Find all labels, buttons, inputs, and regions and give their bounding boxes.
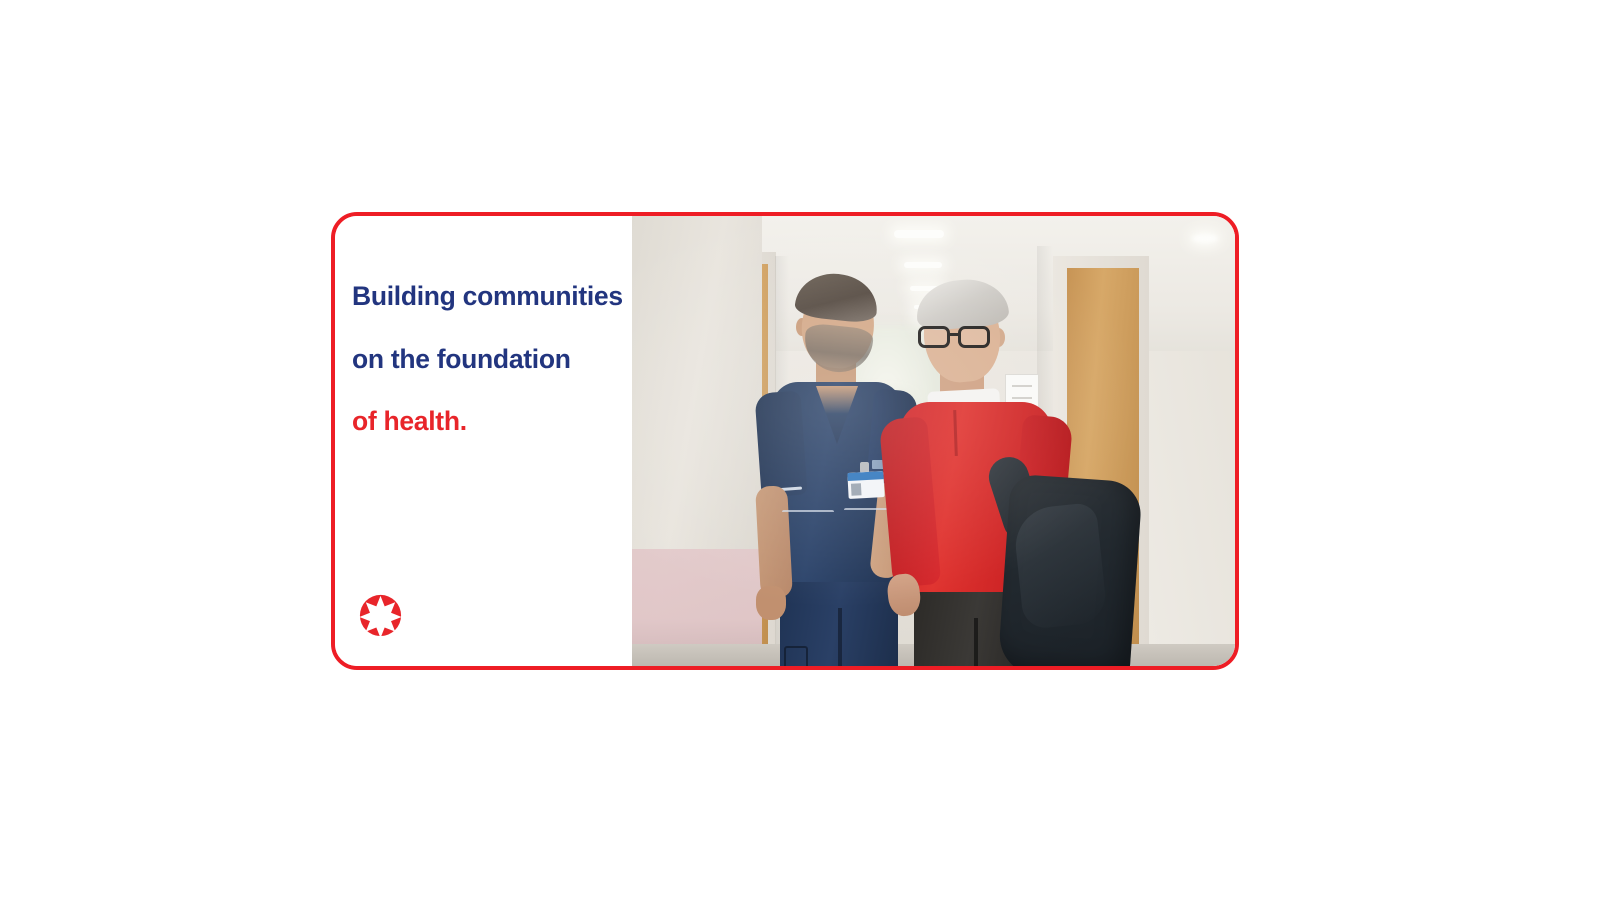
hospital-corridor-scene (632, 216, 1235, 666)
nurse-pocket (844, 508, 892, 554)
page-title: Building communities on the foundation o… (352, 250, 632, 468)
page-canvas: Building communities on the foundation o… (0, 0, 1600, 900)
patient-trouser-seam (974, 618, 978, 666)
draped-jacket-fold (1012, 502, 1108, 630)
brand-hero-card: Building communities on the foundation o… (331, 212, 1239, 670)
nurse-hand-left (756, 586, 786, 620)
headline-line-3-accent: of health. (352, 406, 632, 437)
nurse-leg-pocket (784, 646, 808, 666)
nurse-beard (802, 323, 874, 376)
ceiling-light (1192, 234, 1218, 243)
nurse-trouser-seam (838, 608, 842, 666)
patient-white-hair (914, 276, 1010, 332)
nurse-id-badge (847, 471, 884, 499)
ceiling-light (894, 230, 944, 238)
card-text-panel: Building communities on the foundation o… (335, 216, 632, 666)
nurse-pocket (782, 510, 834, 556)
headline-line-1: Building communities (352, 281, 632, 312)
patient-eyeglasses (918, 326, 996, 348)
rosette-star-logo-icon (356, 590, 405, 639)
hero-photograph (632, 216, 1235, 666)
ceiling-light (904, 262, 942, 268)
headline-line-2: on the foundation (352, 344, 632, 375)
nurse-sleeve-left (754, 391, 807, 498)
